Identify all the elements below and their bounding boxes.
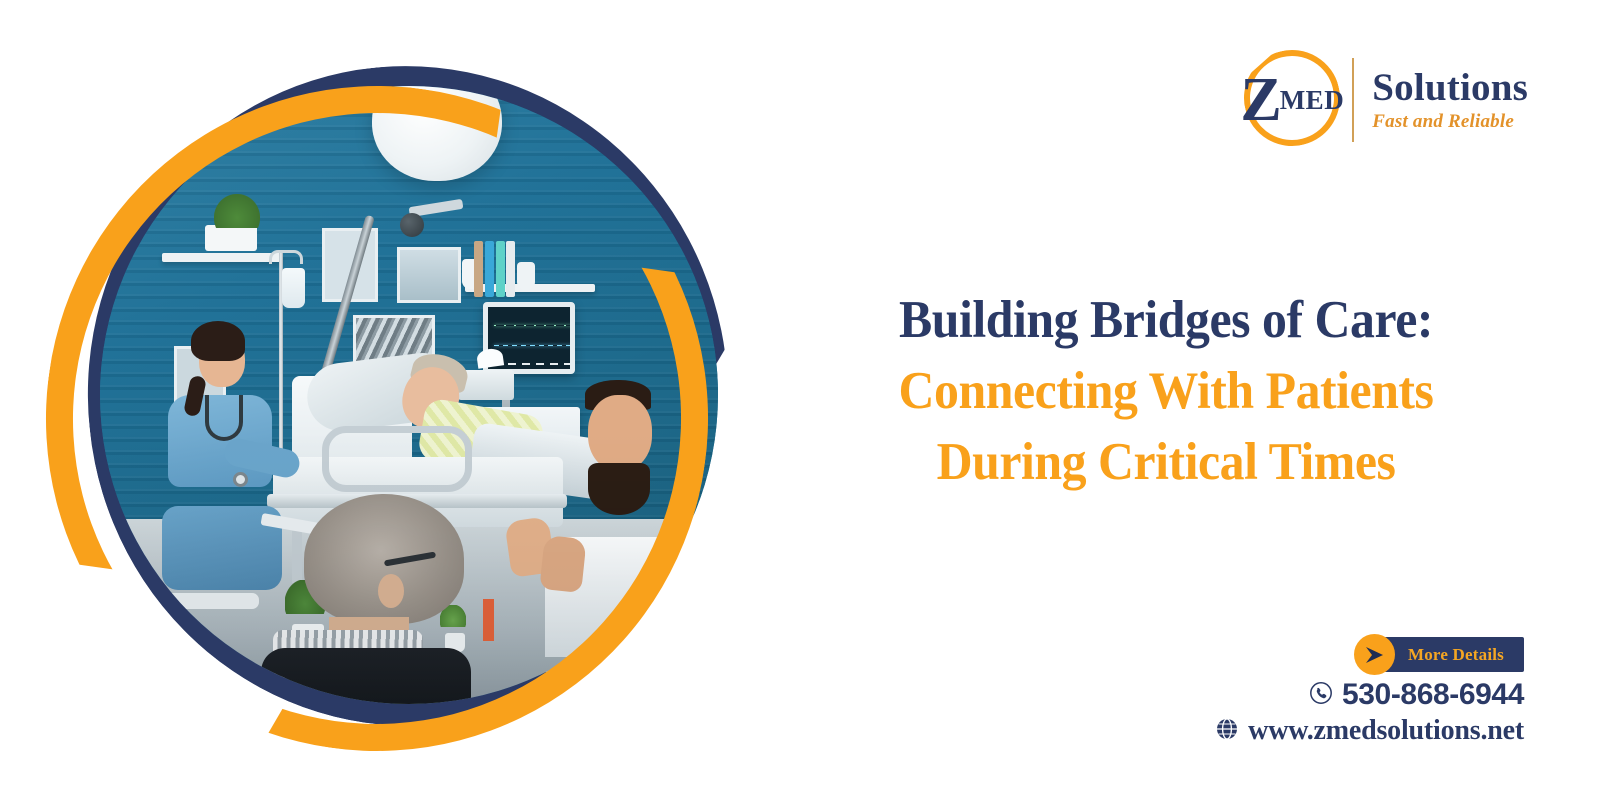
- globe-icon: [1215, 717, 1239, 746]
- contact-block: 530-868-6944 www.zmedsolutions.net: [1215, 678, 1524, 747]
- headline-line-3: During Critical Times: [828, 427, 1505, 498]
- book: [474, 241, 483, 297]
- logo-wordmark: Solutions Fast and Reliable: [1372, 67, 1528, 132]
- page-title: Building Bridges of Care: Connecting Wit…: [806, 285, 1526, 498]
- phone-number: 530-868-6944: [1342, 678, 1524, 712]
- hero-visual-composition: [40, 48, 740, 758]
- arrow-right-icon: [1354, 634, 1395, 675]
- book: [485, 241, 494, 297]
- brand-tagline: Fast and Reliable: [1372, 111, 1514, 133]
- more-details-label: More Details: [1408, 645, 1504, 665]
- hospital-bed-leg: [292, 531, 302, 583]
- brand-logo[interactable]: Z MED Solutions Fast and Reliable: [1236, 44, 1528, 156]
- book: [506, 241, 515, 297]
- stool: [149, 593, 259, 609]
- logo-mark: Z MED: [1236, 44, 1348, 156]
- brand-name: Solutions: [1372, 67, 1528, 108]
- book: [496, 241, 505, 297]
- phone-row[interactable]: 530-868-6944: [1309, 678, 1524, 712]
- logo-text-med: MED: [1280, 85, 1345, 116]
- headline-line-2: Connecting With Patients: [828, 356, 1505, 427]
- phone-icon: [1309, 681, 1333, 710]
- headline-line-1: Building Bridges of Care:: [828, 285, 1505, 356]
- website-url: www.zmedsolutions.net: [1248, 715, 1524, 747]
- logo-letter-z: Z: [1240, 69, 1281, 131]
- more-details-button[interactable]: More Details: [1364, 637, 1524, 672]
- vertical-divider-icon: [1352, 58, 1354, 142]
- website-row[interactable]: www.zmedsolutions.net: [1215, 715, 1524, 747]
